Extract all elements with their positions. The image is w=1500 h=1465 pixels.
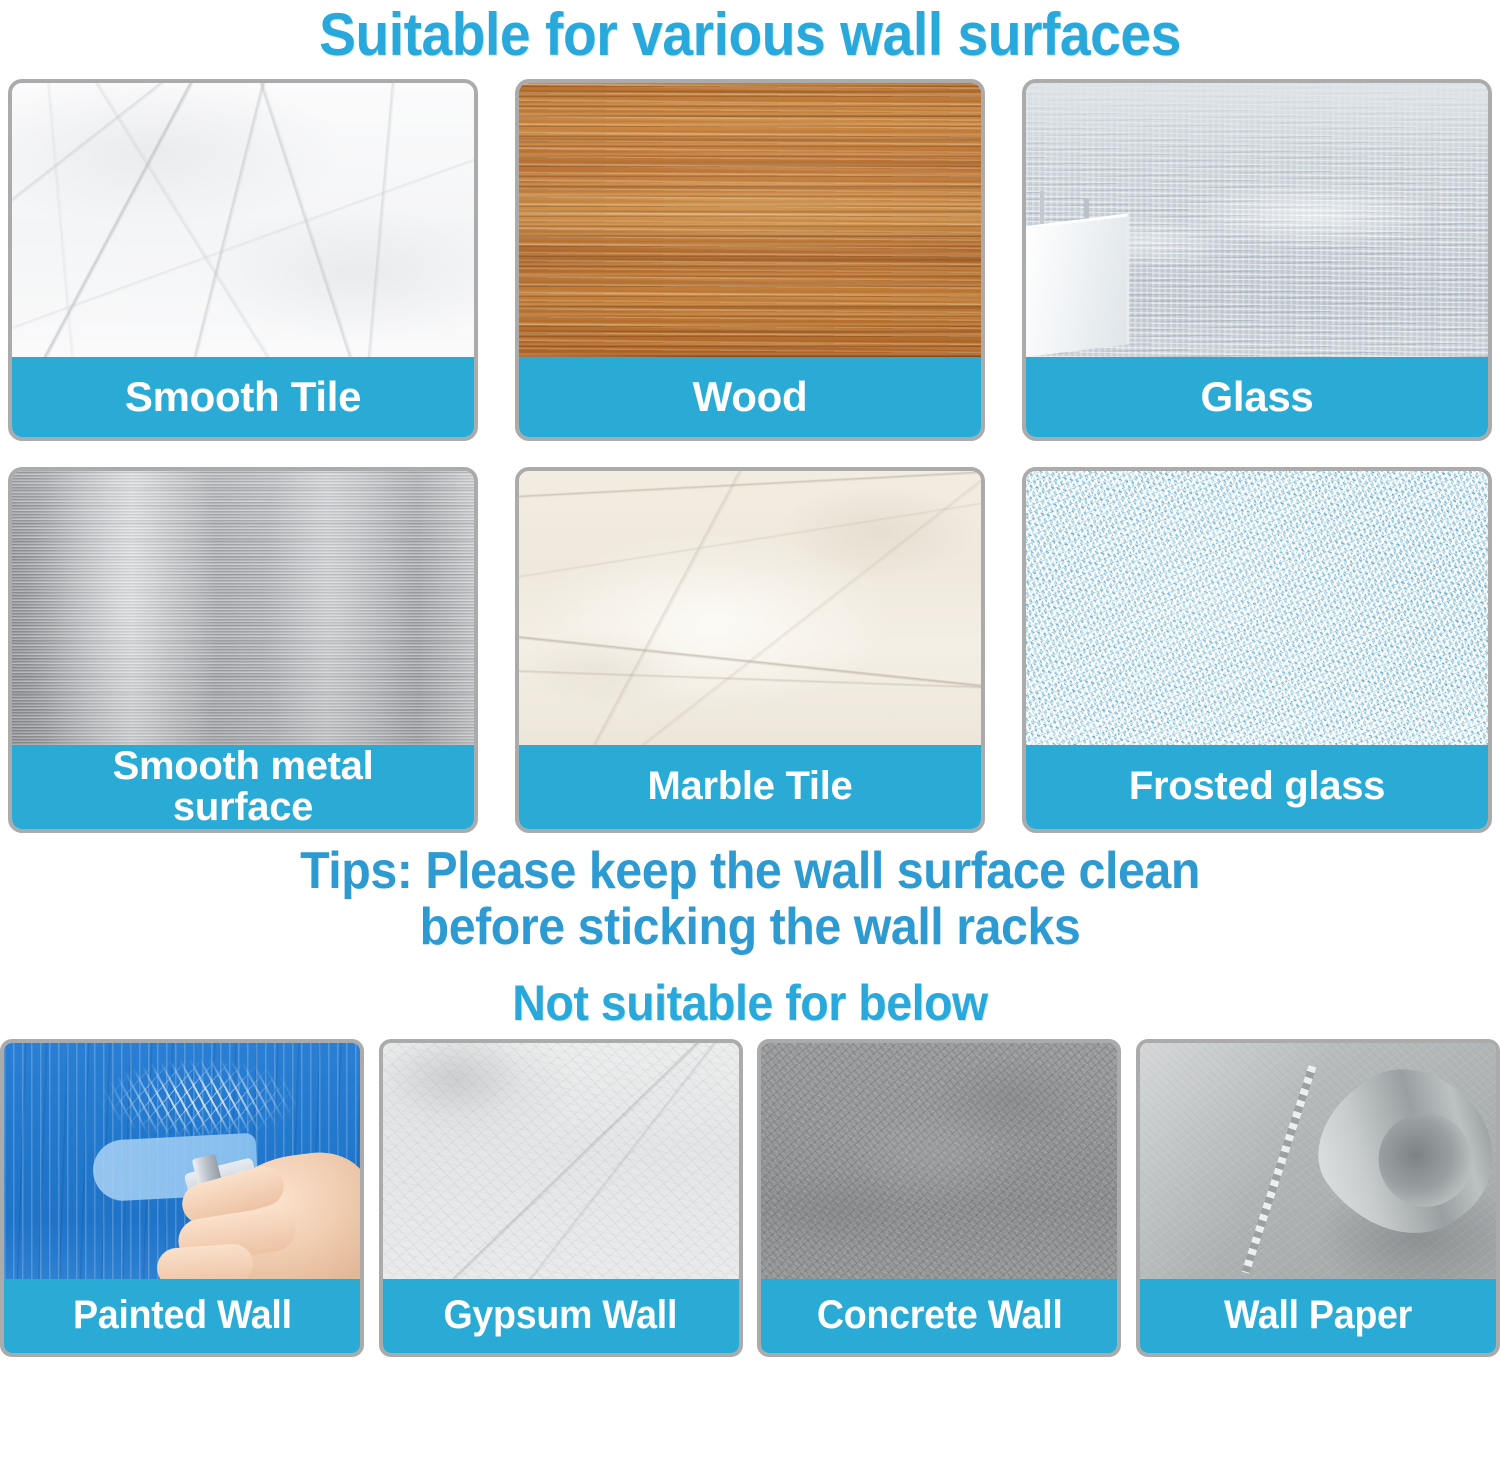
tips-text-line1: Please keep the wall surface clean — [425, 842, 1200, 900]
tips-line-1: Tips: Please keep the wall surface clean — [53, 843, 1448, 899]
wood-texture-image — [519, 83, 981, 357]
paint-splatter-shape — [82, 1052, 317, 1146]
surface-card-gypsum-wall[interactable]: Gypsum Wall — [379, 1039, 743, 1357]
tips-block: Tips: Please keep the wall surface clean… — [0, 843, 1500, 955]
wall-paper-texture-image — [1140, 1043, 1496, 1279]
finger-shape — [156, 1242, 255, 1278]
surface-label-painted-wall: Painted Wall — [4, 1279, 360, 1353]
surface-label-wall-paper-text: Wall Paper — [1224, 1295, 1412, 1337]
glass-texture-image — [1026, 83, 1488, 357]
surface-card-marble-tile[interactable]: Marble Tile — [515, 467, 985, 833]
surface-card-painted-wall[interactable]: Painted Wall — [0, 1039, 364, 1357]
surface-card-wall-paper[interactable]: Wall Paper — [1136, 1039, 1500, 1357]
not-suitable-row: Painted Wall Gypsum Wall Concrete Wall W… — [0, 1039, 1500, 1357]
surface-label-marble-tile: Marble Tile — [519, 745, 981, 829]
surface-card-smooth-metal[interactable]: Smooth metal surface — [8, 467, 478, 833]
surface-card-concrete-wall[interactable]: Concrete Wall — [757, 1039, 1121, 1357]
surface-card-smooth-tile[interactable]: Smooth Tile — [8, 79, 478, 441]
foreground-building-shape — [1026, 214, 1129, 358]
surface-label-concrete-wall-text: Concrete Wall — [816, 1295, 1062, 1337]
surface-label-smooth-metal-line1: Smooth metal — [113, 746, 374, 788]
suitable-row-2: Smooth metal surface Marble Tile Frosted… — [0, 467, 1500, 833]
surface-label-smooth-tile: Smooth Tile — [12, 357, 474, 437]
surface-label-concrete-wall: Concrete Wall — [761, 1279, 1117, 1353]
metal-texture-image — [12, 471, 474, 745]
surface-label-gypsum-wall-text: Gypsum Wall — [444, 1295, 678, 1337]
surface-label-painted-wall-text: Painted Wall — [73, 1295, 292, 1337]
not-suitable-title: Not suitable for below — [53, 978, 1448, 1029]
suitable-row-1: Smooth Tile Wood Glass — [0, 79, 1500, 441]
surface-label-wood: Wood — [519, 357, 981, 437]
painted-wall-texture-image — [4, 1043, 360, 1279]
surface-card-wood[interactable]: Wood — [515, 79, 985, 441]
surface-label-glass: Glass — [1026, 357, 1488, 437]
surface-card-glass[interactable]: Glass — [1022, 79, 1492, 441]
surface-label-frosted-glass: Frosted glass — [1026, 745, 1488, 829]
concrete-wall-texture-image — [761, 1043, 1117, 1279]
tips-text-line2: before sticking the wall racks — [53, 899, 1448, 955]
surface-label-gypsum-wall: Gypsum Wall — [383, 1279, 739, 1353]
surface-label-wall-paper: Wall Paper — [1140, 1279, 1496, 1353]
marble-texture-image — [519, 471, 981, 745]
surface-label-smooth-metal-line2: surface — [113, 787, 374, 829]
gypsum-wall-texture-image — [383, 1043, 739, 1279]
surface-label-smooth-metal: Smooth metal surface — [12, 745, 474, 829]
smooth-tile-texture-image — [12, 83, 474, 357]
page-title: Suitable for various wall surfaces — [60, 0, 1440, 65]
tips-label: Tips: — [300, 842, 412, 900]
surface-card-frosted-glass[interactable]: Frosted glass — [1022, 467, 1492, 833]
frosted-glass-texture-image — [1026, 471, 1488, 745]
